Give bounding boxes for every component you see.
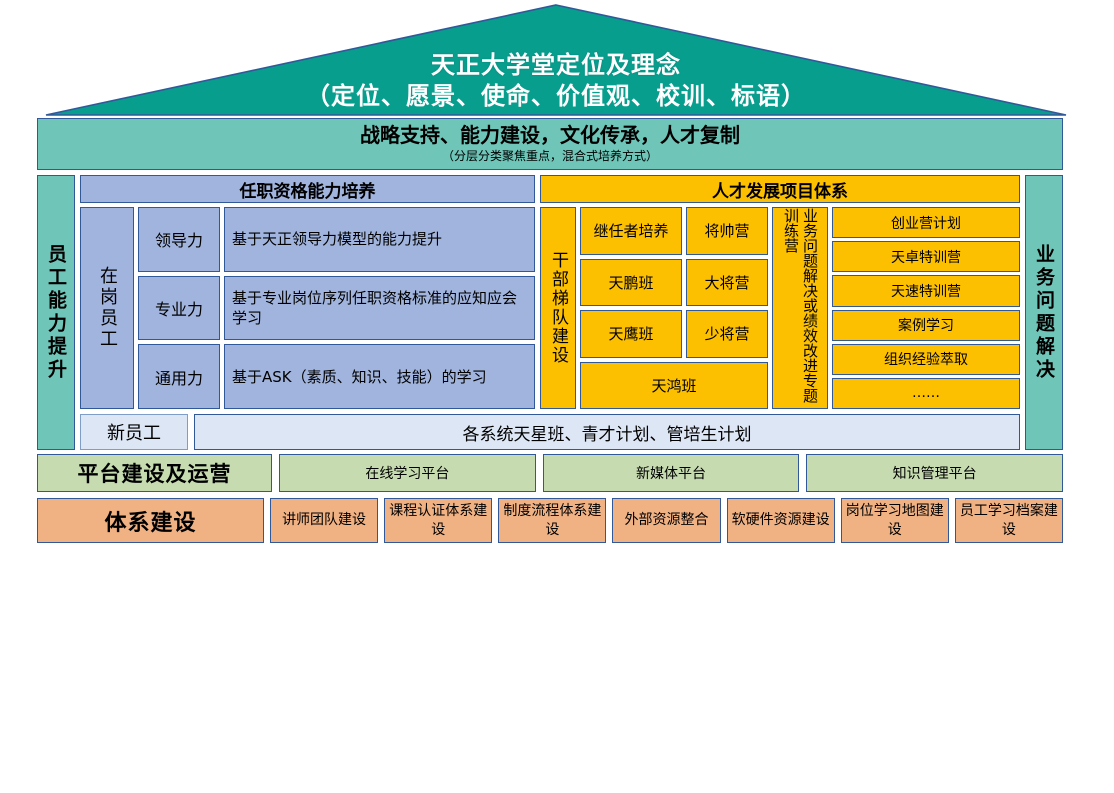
cadre-program[interactable]: 天鸿班 (580, 362, 768, 410)
project-item[interactable]: 创业营计划 (832, 207, 1020, 238)
business-training-label-box: 业务问题解决或绩效改进专题训练营 (772, 207, 828, 409)
cadre-program[interactable]: 继任者培养 (580, 207, 682, 255)
system-item[interactable]: 岗位学习地图建设 (841, 498, 949, 543)
qualification-row: 领导力 基于天正领导力模型的能力提升 (138, 207, 535, 272)
cadre-label-box: 干部梯队建设 (540, 207, 576, 409)
qualification-header: 任职资格能力培养 (80, 175, 535, 203)
onjob-employee-label-box: 在岗员工 (80, 207, 134, 409)
project-list: 创业营计划 天卓特训营 天速特训营 案例学习 组织经验萃取 …… (832, 207, 1020, 409)
system-row: 体系建设 讲师团队建设 课程认证体系建设 制度流程体系建设 外部资源整合 软硬件… (37, 498, 1063, 543)
qualification-panel: 任职资格能力培养 在岗员工 领导力 基于天正领导力模型的能力提升 专业力 (80, 175, 535, 409)
capability-label[interactable]: 专业力 (138, 276, 220, 341)
new-employee-description[interactable]: 各系统天星班、青才计划、管培生计划 (194, 414, 1020, 450)
platform-item[interactable]: 在线学习平台 (279, 454, 536, 492)
cadre-label: 干部梯队建设 (547, 251, 569, 365)
diagram-canvas: 天正大学堂定位及理念 （定位、愿景、使命、价值观、校训、标语） 战略支持、能力建… (0, 0, 1114, 551)
cadre-program-grid: 继任者培养 将帅营 天鹏班 大将营 天鹰班 少将营 (580, 207, 768, 409)
project-item[interactable]: 天速特训营 (832, 275, 1020, 306)
strategy-band: 战略支持、能力建设，文化传承，人才复制 （分层分类聚焦重点，混合式培养方式） (37, 118, 1063, 170)
capability-description[interactable]: 基于专业岗位序列任职资格标准的应知应会学习 (224, 276, 535, 341)
cadre-program[interactable]: 天鹏班 (580, 259, 682, 307)
system-item[interactable]: 制度流程体系建设 (498, 498, 606, 543)
capability-description[interactable]: 基于ASK（素质、知识、技能）的学习 (224, 344, 535, 409)
project-item[interactable]: …… (832, 378, 1020, 409)
system-item[interactable]: 外部资源整合 (612, 498, 720, 543)
strategy-band-main: 战略支持、能力建设，文化传承，人才复制 (360, 123, 740, 148)
right-pillar: 业务问题解决 (1025, 175, 1063, 450)
qualification-row: 专业力 基于专业岗位序列任职资格标准的应知应会学习 (138, 276, 535, 341)
project-item[interactable]: 案例学习 (832, 310, 1020, 341)
strategy-band-sub: （分层分类聚焦重点，混合式培养方式） (442, 148, 658, 165)
center-upper: 任职资格能力培养 在岗员工 领导力 基于天正领导力模型的能力提升 专业力 (80, 175, 1020, 409)
business-training-label: 业务问题解决或绩效改进专题训练营 (781, 208, 819, 408)
qualification-rows: 领导力 基于天正领导力模型的能力提升 专业力 基于专业岗位序列任职资格标准的应知… (138, 207, 535, 409)
talent-panel: 人才发展项目体系 干部梯队建设 继任者培养 将帅营 天鹏班 (540, 175, 1020, 409)
system-title: 体系建设 (37, 498, 264, 543)
left-pillar: 员工能力提升 (37, 175, 75, 450)
project-item[interactable]: 天卓特训营 (832, 241, 1020, 272)
system-item[interactable]: 讲师团队建设 (270, 498, 378, 543)
new-employee-label[interactable]: 新员工 (80, 414, 188, 450)
talent-header: 人才发展项目体系 (540, 175, 1020, 203)
cadre-program[interactable]: 少将营 (686, 310, 768, 358)
system-item[interactable]: 课程认证体系建设 (384, 498, 492, 543)
talent-body: 干部梯队建设 继任者培养 将帅营 天鹏班 大将营 (540, 207, 1020, 409)
main-body: 员工能力提升 任职资格能力培养 在岗员工 领导力 基于天正领导力模型的能力提升 (37, 175, 1063, 450)
capability-label[interactable]: 通用力 (138, 344, 220, 409)
right-pillar-label: 业务问题解决 (1033, 244, 1055, 382)
cadre-row: 天鹰班 少将营 (580, 310, 768, 358)
platform-item[interactable]: 知识管理平台 (806, 454, 1063, 492)
system-item[interactable]: 软硬件资源建设 (727, 498, 835, 543)
capability-description[interactable]: 基于天正领导力模型的能力提升 (224, 207, 535, 272)
platform-title: 平台建设及运营 (37, 454, 272, 492)
new-employee-row: 新员工 各系统天星班、青才计划、管培生计划 (80, 414, 1020, 450)
project-item[interactable]: 组织经验萃取 (832, 344, 1020, 375)
cadre-program[interactable]: 将帅营 (686, 207, 768, 255)
qualification-body: 在岗员工 领导力 基于天正领导力模型的能力提升 专业力 基于专业岗位序列任职资格… (80, 207, 535, 409)
cadre-program[interactable]: 大将营 (686, 259, 768, 307)
onjob-employee-label: 在岗员工 (96, 266, 118, 350)
cadre-row: 天鹏班 大将营 (580, 259, 768, 307)
left-pillar-label: 员工能力提升 (45, 244, 67, 382)
cadre-row: 天鸿班 (580, 362, 768, 410)
platform-item[interactable]: 新媒体平台 (543, 454, 800, 492)
qualification-row: 通用力 基于ASK（素质、知识、技能）的学习 (138, 344, 535, 409)
cadre-row: 继任者培养 将帅营 (580, 207, 768, 255)
system-item[interactable]: 员工学习档案建设 (955, 498, 1063, 543)
roof-shape: 天正大学堂定位及理念 （定位、愿景、使命、价值观、校训、标语） (45, 4, 1067, 116)
capability-label[interactable]: 领导力 (138, 207, 220, 272)
center-column: 任职资格能力培养 在岗员工 领导力 基于天正领导力模型的能力提升 专业力 (80, 175, 1020, 450)
platform-row: 平台建设及运营 在线学习平台 新媒体平台 知识管理平台 (37, 454, 1063, 492)
cadre-program[interactable]: 天鹰班 (580, 310, 682, 358)
